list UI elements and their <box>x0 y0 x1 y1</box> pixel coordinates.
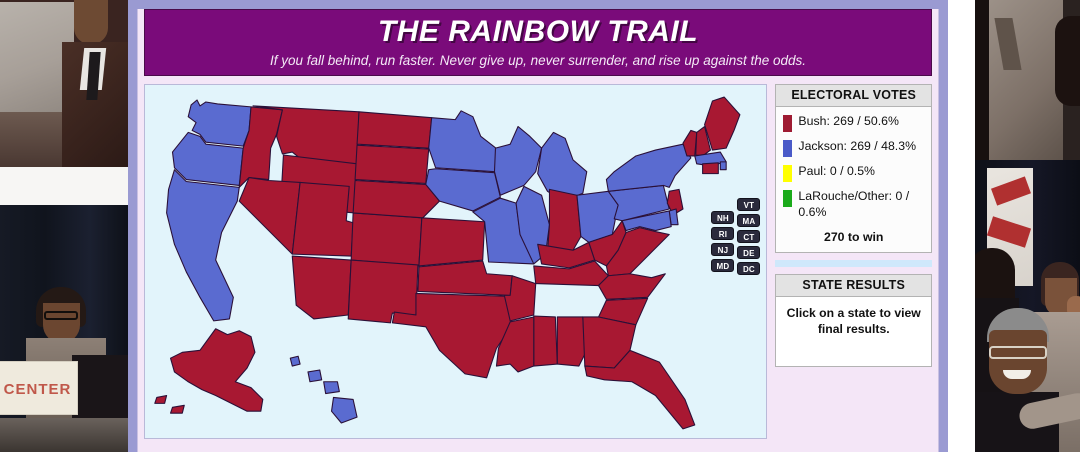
state-HI-2 <box>308 370 322 382</box>
state-HI-3 <box>324 382 340 394</box>
state-box-ct[interactable]: CT <box>737 230 760 243</box>
state-CO <box>351 213 422 266</box>
us-electoral-map[interactable] <box>145 85 766 438</box>
content-row: NH RI NJ MD VT MA CT DE DC <box>138 76 938 439</box>
photo-stage-decor <box>0 418 128 452</box>
state-box-de[interactable]: DE <box>737 246 760 259</box>
electoral-votes-heading: ELECTORAL VOTES <box>776 85 931 107</box>
state-IN <box>548 190 581 253</box>
photo-gap-divider <box>0 167 128 205</box>
smiling-man-with-glasses-photo <box>975 160 1080 452</box>
state-HI-4 <box>332 398 358 424</box>
state-HI-1 <box>290 357 300 367</box>
legend-item-paul: Paul: 0 / 0.5% <box>783 164 924 182</box>
state-AL <box>557 317 584 366</box>
legend-item-larouche: LaRouche/Other: 0 / 0.6% <box>783 189 924 220</box>
state-results-heading: STATE RESULTS <box>776 275 931 297</box>
state-box-ri[interactable]: RI <box>711 227 734 240</box>
state-box-md[interactable]: MD <box>711 259 734 272</box>
state-box-nj[interactable]: NJ <box>711 243 734 256</box>
small-state-box-group: NH RI NJ MD VT MA CT DE DC <box>711 211 760 275</box>
podium-sign-text: ON CENTER <box>0 381 78 398</box>
state-AZ <box>292 256 351 319</box>
state-UT <box>292 183 353 257</box>
state-NV <box>239 178 300 255</box>
state-CA <box>167 170 240 321</box>
electoral-votes-card: ELECTORAL VOTES Bush: 269 / 50.6% Jackso… <box>775 84 932 252</box>
site-header: THE RAINBOW TRAIL If you fall behind, ru… <box>144 9 932 76</box>
state-ME <box>705 97 740 150</box>
state-ND <box>357 112 432 148</box>
legend-item-jackson: Jackson: 269 / 48.3% <box>783 139 924 157</box>
legend-label-larouche: LaRouche/Other: 0 / 0.6% <box>798 189 924 220</box>
legend-label-bush: Bush: 269 / 50.6% <box>798 114 899 130</box>
photo-glasses-decor <box>44 311 78 320</box>
legend-swatch-paul <box>783 165 792 182</box>
state-box-ma[interactable]: MA <box>737 214 760 227</box>
state-SD <box>355 146 429 184</box>
state-WI <box>494 127 541 196</box>
woman-at-podium-photo: ON CENTER <box>0 205 128 452</box>
state-OK <box>418 261 512 295</box>
photo-face-decor <box>989 330 1047 394</box>
state-box-nh[interactable]: NH <box>711 211 734 224</box>
small-state-column-b: VT MA CT DE DC <box>737 198 760 275</box>
photo-face-decor <box>74 0 108 44</box>
right-photo-strip <box>975 0 1080 452</box>
page-title: THE RAINBOW TRAIL <box>155 16 921 48</box>
legend-swatch-bush <box>783 115 792 132</box>
suited-torso-photo <box>975 0 1080 160</box>
legend-swatch-jackson <box>783 140 792 157</box>
state-results-message: Click on a state to view final results. <box>784 306 923 338</box>
site-tagline: If you fall behind, run faster. Never gi… <box>155 53 921 68</box>
state-AK-islands <box>155 396 184 414</box>
state-MN <box>429 111 499 172</box>
photo-hair-decor <box>1055 16 1080 106</box>
state-AK <box>171 329 263 411</box>
sidebar-divider-strip <box>775 260 932 267</box>
state-results-card: STATE RESULTS Click on a state to view f… <box>775 274 932 367</box>
photo-face-decor <box>43 303 80 343</box>
page-inner: THE RAINBOW TRAIL If you fall behind, ru… <box>137 9 939 452</box>
state-box-vt[interactable]: VT <box>737 198 760 211</box>
state-RI <box>720 162 726 170</box>
state-KS <box>419 218 485 266</box>
state-MI <box>538 133 587 202</box>
to-win-label: 270 to win <box>783 230 924 244</box>
electoral-map-panel[interactable]: NH RI NJ MD VT MA CT DE DC <box>144 84 767 439</box>
electoral-votes-body: Bush: 269 / 50.6% Jackson: 269 / 48.3% P… <box>776 107 931 251</box>
state-CT <box>703 163 719 174</box>
small-state-column-a: NH RI NJ MD <box>711 211 734 275</box>
photo-glasses-decor <box>989 346 1047 359</box>
state-results-body: Click on a state to view final results. <box>776 297 931 366</box>
screenshot-root: ON CENTER <box>0 0 1080 452</box>
sidebar: ELECTORAL VOTES Bush: 269 / 50.6% Jackso… <box>775 84 932 366</box>
left-photo-strip: ON CENTER <box>0 0 128 452</box>
state-NC <box>599 274 666 300</box>
state-box-dc[interactable]: DC <box>737 262 760 275</box>
legend-label-paul: Paul: 0 / 0.5% <box>798 164 875 180</box>
man-in-suit-photo <box>0 0 128 167</box>
state-MS <box>534 316 558 366</box>
legend-swatch-larouche <box>783 190 792 207</box>
legend-item-bush: Bush: 269 / 50.6% <box>783 114 924 132</box>
state-NY <box>606 145 690 192</box>
page-frame: THE RAINBOW TRAIL If you fall behind, ru… <box>128 0 948 452</box>
legend-label-jackson: Jackson: 269 / 48.3% <box>798 139 916 155</box>
